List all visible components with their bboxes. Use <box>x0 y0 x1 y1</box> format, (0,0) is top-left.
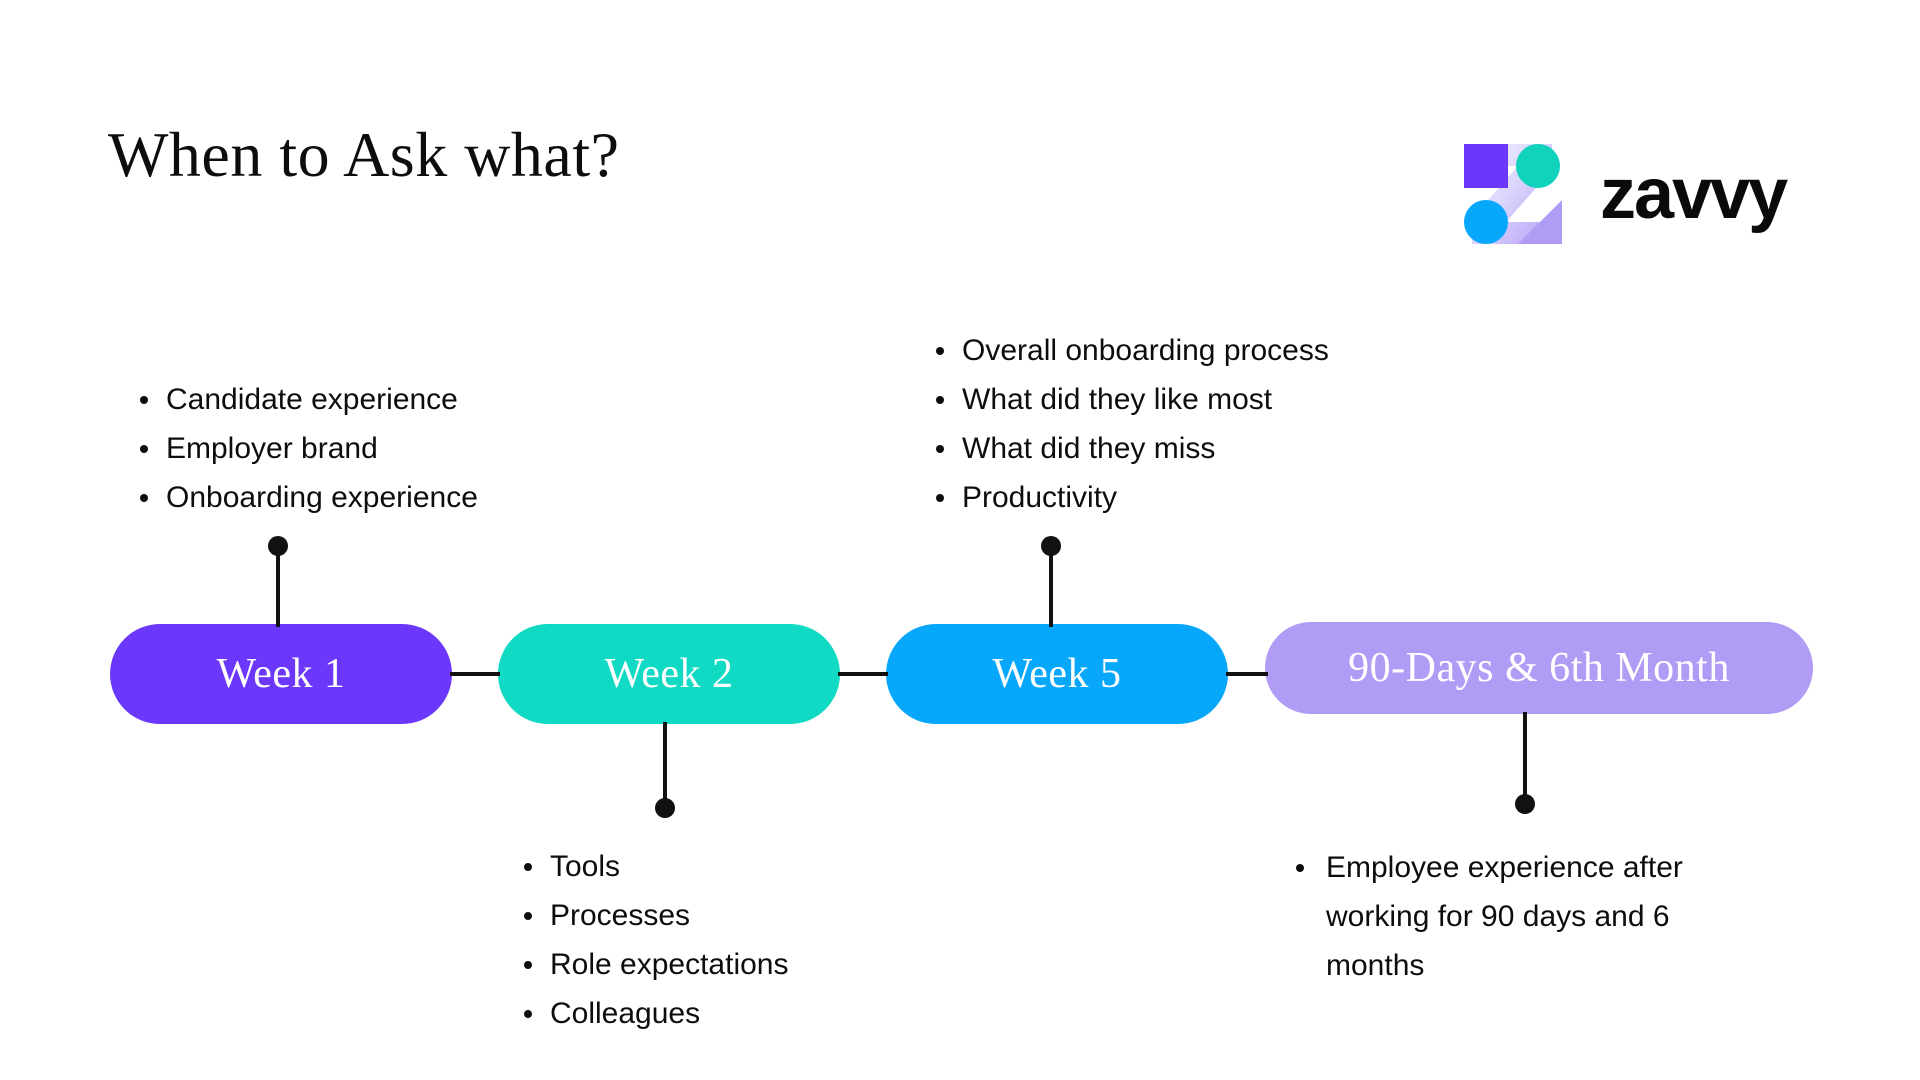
list-item: Candidate experience <box>134 375 564 424</box>
zavvy-z-logo-icon <box>1458 140 1566 248</box>
timeline-connector-1 <box>450 672 500 676</box>
callout-list-week-2: ToolsProcessesRole expectationsColleague… <box>518 842 918 1038</box>
timeline-stage-week-2[interactable]: Week 2 <box>498 624 840 724</box>
callout-stem-week-2 <box>663 722 667 804</box>
page-title: When to Ask what? <box>108 118 620 192</box>
list-item: Employee experience after working for 90… <box>1288 843 1768 990</box>
list-item: Employer brand <box>134 424 564 473</box>
list-item: Processes <box>518 891 918 940</box>
callout-dot-week-5 <box>1041 536 1061 556</box>
brand-logo: zavvy <box>1458 140 1848 248</box>
list-item: What did they like most <box>930 375 1450 424</box>
timeline-stage-week-5[interactable]: Week 5 <box>886 624 1228 724</box>
callout-list-week-1: Candidate experienceEmployer brandOnboar… <box>134 375 564 522</box>
list-item: Overall onboarding process <box>930 326 1450 375</box>
list-item: Role expectations <box>518 940 918 989</box>
timeline-stage-90-days[interactable]: 90-Days & 6th Month <box>1265 622 1813 714</box>
timeline-connector-2 <box>838 672 888 676</box>
callout-list-week-5: Overall onboarding processWhat did they … <box>930 326 1450 522</box>
callout-dot-week-1 <box>268 536 288 556</box>
timeline-stage-week-1[interactable]: Week 1 <box>110 624 452 724</box>
callout-dot-90-days <box>1515 794 1535 814</box>
list-item: Onboarding experience <box>134 473 564 522</box>
brand-wordmark: zavvy <box>1600 146 1786 242</box>
callout-list-90-days: Employee experience after working for 90… <box>1288 843 1768 990</box>
callout-stem-week-1 <box>276 545 280 627</box>
list-item: Colleagues <box>518 989 918 1038</box>
list-item: What did they miss <box>930 424 1450 473</box>
infographic-canvas: When to Ask what? <box>0 0 1920 1080</box>
callout-stem-week-5 <box>1049 545 1053 627</box>
timeline-connector-3 <box>1226 672 1268 676</box>
callout-stem-90-days <box>1523 712 1527 800</box>
callout-dot-week-2 <box>655 798 675 818</box>
list-item: Tools <box>518 842 918 891</box>
list-item: Productivity <box>930 473 1450 522</box>
